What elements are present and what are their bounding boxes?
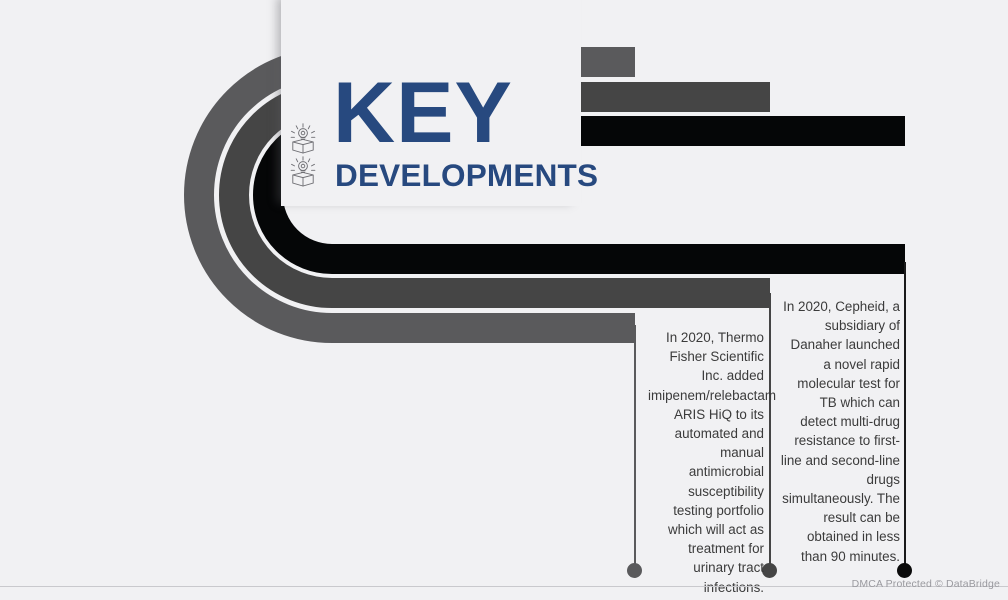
milestone-text-thermo-fisher: In 2020, Thermo Fisher Scientific Inc. a…: [648, 328, 764, 597]
idea-box-icon: [286, 122, 320, 156]
title-line-key: KEY: [333, 70, 573, 156]
page-title: KEY DEVELOPMENTS: [333, 70, 573, 192]
milestone-text-cepheid: In 2020, Cepheid, a subsidiary of Danahe…: [780, 297, 900, 566]
dmca-credit: DMCA Protected © DataBridge: [852, 578, 1000, 590]
milestone-connector-1: [634, 325, 636, 566]
infographic-slide: KEY DEVELOPMENTS In 2020, Thermo Fisher …: [0, 0, 1008, 600]
title-line-developments: DEVELOPMENTS: [335, 158, 573, 192]
idea-box-icon: [286, 155, 320, 189]
milestone-connector-2: [769, 293, 771, 566]
milestone-connector-3: [904, 262, 906, 566]
